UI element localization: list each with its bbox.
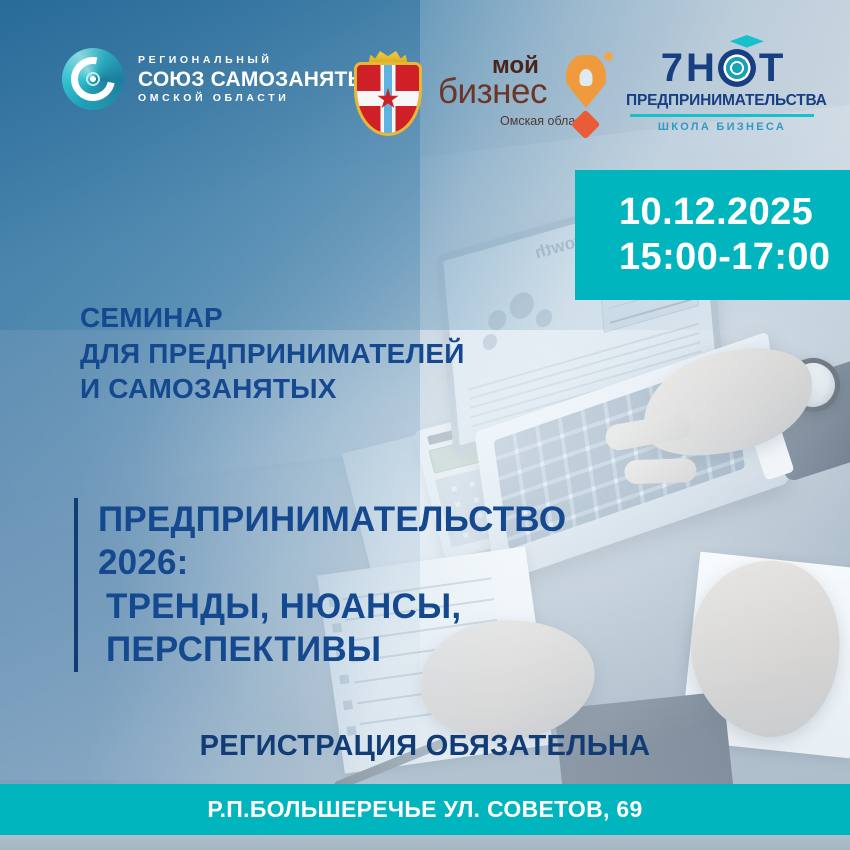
logo-my-business: мой бизнес Омская область bbox=[438, 52, 618, 138]
title-line-2: 2026: bbox=[98, 541, 566, 584]
seven-notes-subtitle: ПРЕДПРИНИМАТЕЛЬСТВА bbox=[626, 92, 818, 110]
title-line-4: ПЕРСПЕКТИВЫ bbox=[98, 628, 566, 671]
event-time: 15:00-17:00 bbox=[619, 235, 850, 280]
seven-notes-letter-t: Т bbox=[759, 48, 783, 88]
seven-notes-letter-n: Н bbox=[686, 48, 715, 88]
event-title-block: ПРЕДПРИНИМАТЕЛЬСТВО 2026: ТРЕНДЫ, НЮАНСЫ… bbox=[74, 498, 566, 672]
target-graduation-cap-icon bbox=[718, 49, 756, 87]
date-time-badge: 10.12.2025 15:00-17:00 bbox=[575, 170, 850, 300]
seven-notes-numeral: 7 bbox=[661, 48, 683, 88]
kicker-line-1: СЕМИНАР bbox=[80, 300, 465, 336]
bottom-strip bbox=[0, 835, 850, 850]
seven-notes-tagline: ШКОЛА БИЗНЕСА bbox=[626, 121, 818, 133]
rocket-pin-icon bbox=[566, 54, 606, 108]
logo-seven-notes: 7 Н Т ПРЕДПРИНИМАТЕЛЬСТВА ШКОЛА БИЗНЕСА bbox=[626, 46, 818, 138]
logo-bar: РЕГИОНАЛЬНЫЙ СОЮЗ САМОЗАНЯТЫХ ОМСКОЙ ОБЛ… bbox=[0, 0, 850, 160]
event-kicker: СЕМИНАР ДЛЯ ПРЕДПРИНИМАТЕЛЕЙ И САМОЗАНЯТ… bbox=[80, 300, 465, 407]
title-line-1: ПРЕДПРИНИМАТЕЛЬСТВО bbox=[98, 498, 566, 541]
title-line-3: ТРЕНДЫ, НЮАНСЫ, bbox=[98, 585, 566, 628]
pin-dot-icon bbox=[604, 52, 613, 61]
union-circular-c-mark-icon bbox=[62, 48, 124, 110]
venue-address: Р.П.БОЛЬШЕРЕЧЬЕ УЛ. СОВЕТОВ, 69 bbox=[207, 796, 642, 823]
coat-of-arms-shield bbox=[354, 62, 422, 136]
address-band: Р.П.БОЛЬШЕРЕЧЬЕ УЛ. СОВЕТОВ, 69 bbox=[0, 784, 850, 835]
seminar-poster: Company's Growth bbox=[0, 0, 850, 850]
title-accent-bar bbox=[74, 498, 78, 672]
registration-notice: РЕГИСТРАЦИЯ ОБЯЗАТЕЛЬНА bbox=[0, 730, 850, 763]
event-date: 10.12.2025 bbox=[619, 190, 850, 235]
seven-notes-wordmark: 7 Н Т bbox=[626, 46, 818, 90]
omsk-coat-of-arms-icon bbox=[345, 48, 431, 140]
logo-regional-union: РЕГИОНАЛЬНЫЙ СОЮЗ САМОЗАНЯТЫХ ОМСКОЙ ОБЛ… bbox=[62, 48, 382, 110]
kicker-line-3: И САМОЗАНЯТЫХ bbox=[80, 371, 465, 407]
event-title: ПРЕДПРИНИМАТЕЛЬСТВО 2026: ТРЕНДЫ, НЮАНСЫ… bbox=[98, 498, 566, 672]
seven-notes-divider bbox=[630, 114, 814, 117]
my-business-word-main: бизнес bbox=[438, 74, 547, 109]
kicker-line-2: ДЛЯ ПРЕДПРИНИМАТЕЛЕЙ bbox=[80, 336, 465, 372]
